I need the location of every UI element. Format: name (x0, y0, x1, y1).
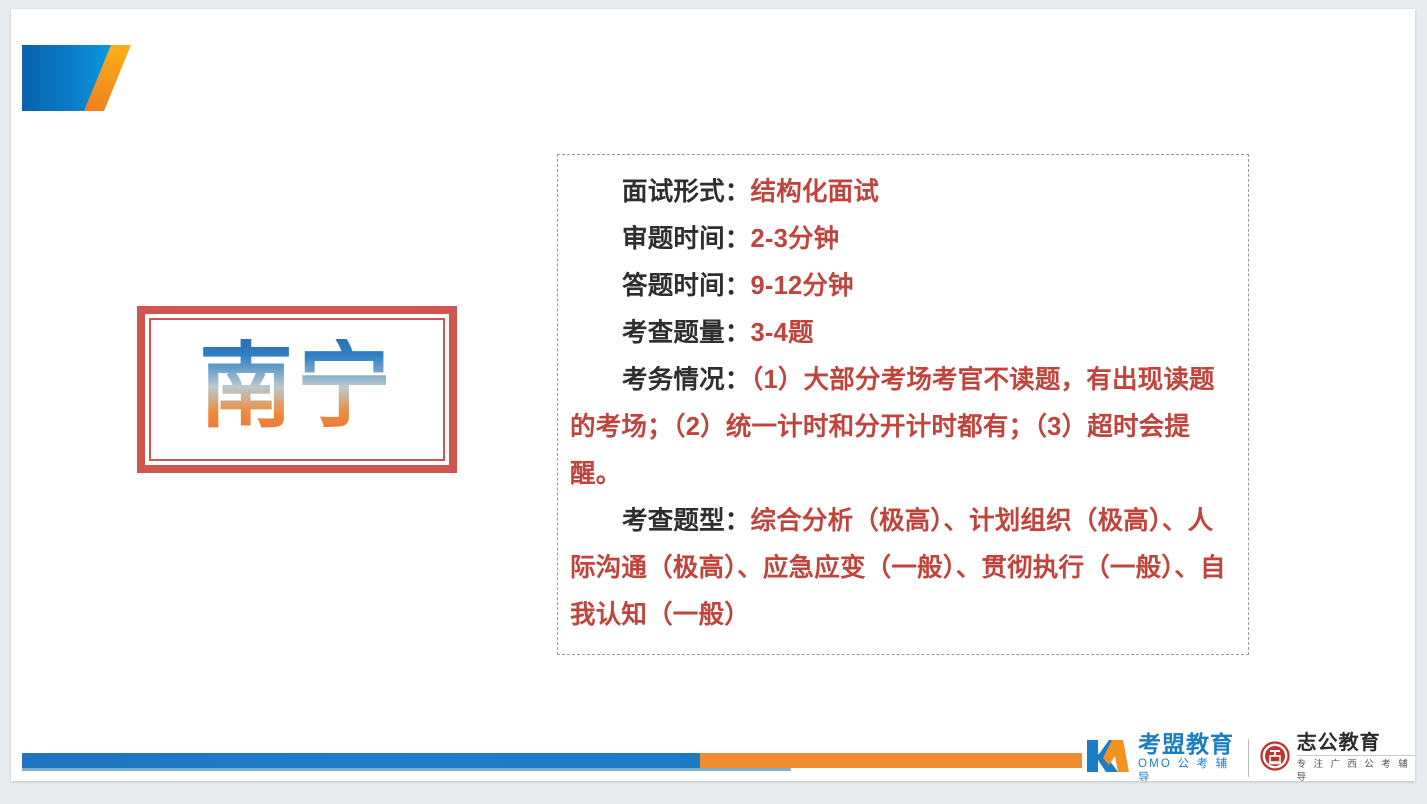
screenshot-stage: 南宁 面试形式：结构化面试 审题时间：2-3分钟 答题时间：9-12分钟 考查题… (0, 0, 1427, 804)
zhigong-subtitle: 专 注 广 西 公 考 辅 导 (1297, 755, 1415, 781)
zhigong-seal-icon (1260, 741, 1290, 776)
info-label: 审题时间： (622, 225, 751, 253)
city-title-frame: 南宁 (137, 306, 457, 473)
info-label: 考查题量： (622, 319, 751, 347)
info-label: 考务情况： (622, 366, 751, 394)
info-value: 2-3分钟 (751, 225, 840, 253)
zhigong-text-block: 志公教育 专 注 广 西 公 考 辅 导 (1297, 732, 1415, 781)
corner-decoration-icon (11, 45, 141, 115)
footer-logos: 考盟教育 OMO 公 考 辅 导 志公教育 (1085, 733, 1415, 781)
info-row-interview-format: 面试形式：结构化面试 (570, 169, 1236, 216)
info-label: 考查题型： (622, 507, 751, 535)
interview-info-box: 面试形式：结构化面试 审题时间：2-3分钟 答题时间：9-12分钟 考查题量：3… (557, 154, 1249, 655)
logo-divider (1248, 739, 1249, 777)
logo-kaomeng: 考盟教育 OMO 公 考 辅 导 (1085, 732, 1237, 782)
info-value: 9-12分钟 (751, 272, 854, 300)
info-row-question-types: 考查题型：综合分析（极高）、计划组织（极高）、人际沟通（极高）、应急应变（一般）… (570, 498, 1236, 639)
info-value: 3-4题 (751, 319, 814, 347)
footer-bar-thin-line (22, 768, 791, 771)
city-title-text: 南宁 (199, 339, 395, 441)
info-value: 结构化面试 (751, 178, 880, 206)
info-row-question-count: 考查题量：3-4题 (570, 310, 1236, 357)
kaomeng-title: 考盟教育 (1138, 732, 1237, 757)
city-title-frame-inner: 南宁 (149, 318, 445, 461)
presentation-slide: 南宁 面试形式：结构化面试 审题时间：2-3分钟 答题时间：9-12分钟 考查题… (11, 9, 1415, 781)
footer-bar-orange (700, 753, 1082, 768)
kaomeng-text-block: 考盟教育 OMO 公 考 辅 导 (1138, 732, 1237, 782)
info-label: 答题时间： (622, 272, 751, 300)
info-row-answer-time: 答题时间：9-12分钟 (570, 263, 1236, 310)
kaomeng-subtitle: OMO 公 考 辅 导 (1138, 757, 1237, 782)
kaomeng-k-mark-icon (1085, 736, 1131, 781)
info-row-exam-logistics: 考务情况：（1）大部分考场考官不读题，有出现读题的考场；（2）统一计时和分开计时… (570, 357, 1236, 498)
info-row-review-time: 审题时间：2-3分钟 (570, 216, 1236, 263)
info-label: 面试形式： (622, 178, 751, 206)
footer-bar-blue (22, 753, 700, 768)
corner-decoration (11, 45, 141, 115)
zhigong-title: 志公教育 (1297, 732, 1415, 754)
logo-zhigong: 志公教育 专 注 广 西 公 考 辅 导 (1260, 732, 1415, 781)
